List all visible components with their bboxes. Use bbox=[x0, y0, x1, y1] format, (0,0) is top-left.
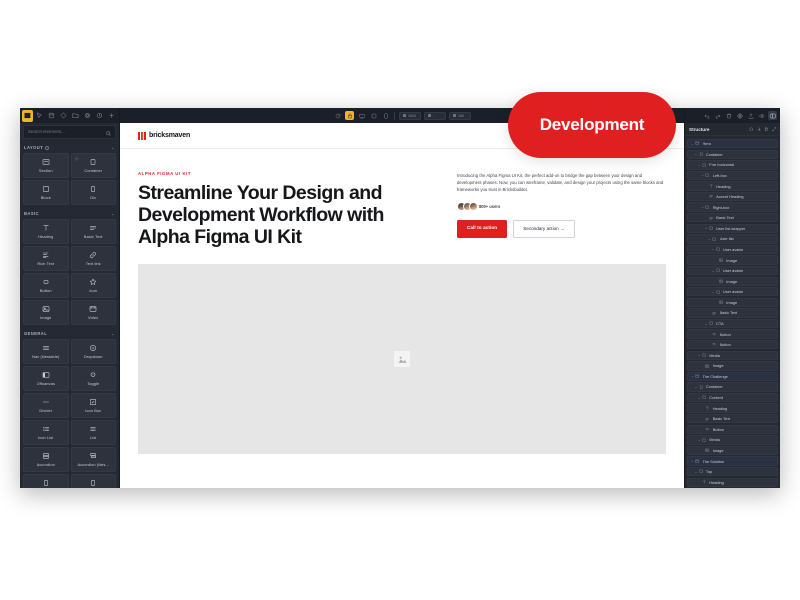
divider-icon bbox=[42, 398, 50, 406]
cursor-icon[interactable] bbox=[34, 110, 45, 122]
elements-panel: Search elements... LAYOUT⌄SectionContain… bbox=[20, 108, 120, 488]
tree-node-label: Container bbox=[706, 152, 723, 157]
tree-node[interactable]: ⌄User avatar bbox=[687, 287, 778, 296]
block-icon bbox=[702, 353, 707, 358]
element-card[interactable]: Accordion bbox=[23, 447, 69, 472]
element-grid: Nav (Nestable)DropdownOffcanvasToggleDiv… bbox=[23, 339, 116, 488]
tree-node[interactable]: ⌄Top bbox=[687, 467, 778, 476]
tree-node-label: The Challenge bbox=[703, 374, 728, 379]
tree-node[interactable]: Heading bbox=[687, 181, 778, 190]
block-icon bbox=[709, 226, 714, 231]
element-label: Video bbox=[88, 315, 98, 320]
block-icon bbox=[705, 173, 710, 178]
element-label: Rich Text bbox=[37, 261, 54, 266]
toggle-icon bbox=[89, 371, 97, 379]
element-label: Text link bbox=[86, 261, 101, 266]
element-card[interactable]: Icon bbox=[71, 273, 117, 298]
undo-icon[interactable] bbox=[702, 111, 711, 120]
tree-node[interactable]: Button bbox=[687, 425, 778, 434]
sort-icon[interactable] bbox=[757, 127, 762, 132]
hero-media-placeholder[interactable] bbox=[138, 264, 666, 454]
field-icon bbox=[453, 114, 456, 117]
element-label: Icon Box bbox=[85, 408, 101, 413]
tree-node[interactable]: Heading bbox=[687, 478, 778, 487]
element-label: Offcanvas bbox=[37, 381, 55, 386]
delete-icon[interactable] bbox=[764, 127, 769, 132]
icon-list-icon bbox=[42, 425, 50, 433]
element-label: Button bbox=[40, 288, 52, 293]
tree-node-label: User list wrapper bbox=[716, 226, 745, 231]
tree-node-label: The Solution bbox=[703, 459, 725, 464]
field-value: 100 bbox=[458, 114, 464, 118]
element-label: Icon List bbox=[38, 435, 53, 440]
refresh-icon[interactable] bbox=[333, 111, 342, 120]
element-label: Section bbox=[39, 168, 53, 173]
hero-right-box: Introducing the Alpha Figma UI Kit, the … bbox=[457, 171, 666, 248]
nested-marker-icon bbox=[75, 157, 79, 161]
text-icon bbox=[709, 194, 714, 199]
element-label: Heading bbox=[38, 234, 53, 239]
div-icon bbox=[42, 479, 50, 487]
site-logo[interactable]: bricksmaven bbox=[138, 132, 190, 140]
mobile-icon[interactable] bbox=[381, 111, 390, 120]
tree-node[interactable]: ⌄Frm horizontal bbox=[687, 160, 778, 169]
tree-node-label: User avatar bbox=[723, 247, 743, 252]
text-icon bbox=[89, 224, 97, 232]
section-title: BASIC bbox=[24, 211, 39, 216]
tree-node[interactable]: ⌄The Solution bbox=[687, 456, 778, 465]
eye-icon[interactable] bbox=[757, 111, 766, 120]
tree-node-label: Heading bbox=[709, 480, 724, 485]
tree-node-label: Content bbox=[709, 395, 723, 400]
block-icon bbox=[702, 162, 707, 167]
element-grid: SectionContainerBlockDiv bbox=[23, 153, 116, 205]
hero-left-box: ALPHA FIGMA UI KIT Streamline Your Desig… bbox=[138, 171, 439, 248]
element-card[interactable]: Rich Text bbox=[23, 246, 69, 271]
tree-node-label: Right-box bbox=[713, 205, 730, 210]
block-icon bbox=[705, 205, 710, 210]
search-input[interactable]: Search elements... bbox=[28, 130, 103, 134]
element-label: Accordion (Nes... bbox=[77, 462, 109, 467]
logo-text: bricksmaven bbox=[149, 132, 190, 139]
offcanvas-icon bbox=[42, 371, 50, 379]
tree-node-label: Top bbox=[706, 469, 712, 474]
element-card[interactable]: Text link bbox=[71, 246, 117, 271]
element-card[interactable]: Offcanvas bbox=[23, 366, 69, 391]
element-card[interactable]: Icon List bbox=[23, 420, 69, 445]
brick-icon[interactable] bbox=[22, 110, 33, 122]
tree-node-label: User avatar bbox=[723, 268, 743, 273]
tree-node[interactable]: ⌄User list wrapper bbox=[687, 224, 778, 233]
tree-node[interactable]: ⌄Hero bbox=[687, 139, 778, 148]
image-icon bbox=[705, 363, 710, 368]
tree-node-label: User list bbox=[720, 236, 734, 241]
section-icon bbox=[695, 141, 700, 146]
folder-icon[interactable] bbox=[70, 110, 81, 122]
tree-node[interactable]: ⌄User avatar bbox=[687, 245, 778, 254]
element-label: Block bbox=[41, 195, 51, 200]
users-count-label: 800+ users bbox=[479, 204, 500, 209]
section-icon bbox=[695, 459, 700, 464]
element-card[interactable]: Image bbox=[23, 300, 69, 325]
field-value: - bbox=[433, 114, 434, 118]
tree-node[interactable]: Image bbox=[687, 277, 778, 286]
development-badge-label: Development bbox=[540, 115, 645, 135]
tree-node-label: Container bbox=[706, 384, 723, 389]
tree-node[interactable]: ⌄Media bbox=[687, 435, 778, 444]
element-card[interactable]: Divider bbox=[23, 393, 69, 418]
container-icon bbox=[89, 158, 97, 166]
section-header-basic[interactable]: BASIC⌄ bbox=[23, 208, 116, 219]
user-list-wrapper: 800+ users bbox=[457, 202, 666, 211]
avatar bbox=[469, 202, 478, 211]
tree-node-label: Button bbox=[720, 332, 731, 337]
chevron-down-icon: ⌄ bbox=[111, 331, 115, 336]
block-icon bbox=[715, 268, 720, 273]
globe-icon[interactable] bbox=[735, 111, 744, 120]
section-header-layout[interactable]: LAYOUT⌄ bbox=[23, 142, 116, 153]
lock-icon[interactable] bbox=[345, 111, 354, 120]
structure-title: Structure bbox=[689, 127, 709, 132]
tree-node[interactable]: ⌄Container bbox=[687, 150, 778, 159]
link-icon bbox=[89, 251, 97, 259]
element-card[interactable]: Div bbox=[23, 474, 69, 488]
tree-node-label: Heading bbox=[713, 406, 728, 411]
list-icon bbox=[89, 425, 97, 433]
tree-node-label: Image bbox=[726, 300, 737, 305]
rich-text-icon bbox=[42, 251, 50, 259]
element-card[interactable]: Basic Text bbox=[71, 219, 117, 244]
block-icon bbox=[702, 395, 707, 400]
image-icon bbox=[705, 448, 710, 453]
tree-node[interactable]: Button bbox=[687, 340, 778, 349]
element-label: Icon bbox=[89, 288, 97, 293]
layers-icon[interactable] bbox=[46, 110, 57, 122]
element-label: Image bbox=[40, 315, 51, 320]
hero-section: ALPHA FIGMA UI KIT Streamline Your Desig… bbox=[120, 149, 684, 248]
add-icon[interactable] bbox=[749, 127, 754, 132]
info-icon bbox=[45, 146, 49, 150]
element-label: Basic Text bbox=[84, 234, 103, 239]
element-label: List bbox=[90, 435, 96, 440]
section-icon bbox=[42, 158, 50, 166]
element-card[interactable]: Dropdown bbox=[71, 339, 117, 364]
trash-icon[interactable] bbox=[724, 111, 733, 120]
tree-node-label: User avatar bbox=[723, 289, 743, 294]
block-icon bbox=[709, 321, 714, 326]
redo-icon[interactable] bbox=[713, 111, 722, 120]
tree-node[interactable]: ⌄Right-box bbox=[687, 202, 778, 211]
element-card[interactable]: Icon Box bbox=[71, 393, 117, 418]
element-label: Divider bbox=[39, 408, 52, 413]
development-badge: Development bbox=[508, 92, 676, 158]
cta-group: Call to action Secondary action → bbox=[457, 220, 666, 238]
section-icon bbox=[695, 374, 700, 379]
element-label: Container bbox=[84, 168, 102, 173]
element-card[interactable]: List bbox=[71, 420, 117, 445]
tree-node[interactable]: Button bbox=[687, 329, 778, 338]
div-icon bbox=[89, 185, 97, 193]
tree-node[interactable]: Basic Text bbox=[687, 213, 778, 222]
chevron-down-icon: ⌄ bbox=[111, 211, 115, 216]
export-icon[interactable] bbox=[746, 111, 755, 120]
block-icon bbox=[712, 236, 717, 241]
button-icon bbox=[705, 427, 710, 432]
tree-node-label: Basic Text bbox=[716, 215, 734, 220]
tree-node-label: Image bbox=[713, 363, 724, 368]
text-icon bbox=[709, 215, 714, 220]
user-avatars bbox=[457, 202, 475, 211]
block-icon bbox=[715, 247, 720, 252]
secondary-cta-button[interactable]: Secondary action → bbox=[513, 220, 574, 238]
tree-node-label: Media bbox=[709, 437, 720, 442]
div-icon bbox=[89, 479, 97, 487]
hero-paragraph: Introducing the Alpha Figma UI Kit, the … bbox=[457, 173, 666, 194]
heading-icon bbox=[702, 480, 707, 485]
container-icon bbox=[698, 152, 703, 157]
element-card[interactable]: Div bbox=[71, 180, 117, 205]
element-label: Toggle bbox=[87, 381, 99, 386]
tree-node-label: Accent Heading bbox=[716, 194, 743, 199]
element-card[interactable]: Block bbox=[23, 180, 69, 205]
tree-node[interactable]: ⌄Left-box bbox=[687, 171, 778, 180]
section-title: LAYOUT bbox=[24, 145, 43, 150]
text-icon bbox=[712, 310, 717, 315]
heading-icon bbox=[42, 224, 50, 232]
accordion-icon bbox=[42, 452, 50, 460]
elements-panel-toolbar bbox=[20, 108, 119, 123]
structure-panel: Structure ⌄Hero⌄Container⌄Frm horizontal… bbox=[684, 108, 780, 488]
image-icon bbox=[719, 300, 724, 305]
logo-mark-icon bbox=[138, 132, 146, 140]
structure-panel-icon[interactable] bbox=[768, 111, 777, 120]
accordion-nested-icon bbox=[89, 452, 97, 460]
chevron-down-icon: ⌄ bbox=[111, 145, 115, 150]
structure-actions[interactable] bbox=[749, 127, 776, 132]
tree-node[interactable]: Image bbox=[687, 298, 778, 307]
element-card[interactable]: Nav (Nestable) bbox=[23, 339, 69, 364]
expand-icon[interactable] bbox=[772, 127, 777, 132]
tree-node-label: Image bbox=[726, 279, 737, 284]
element-card[interactable]: Heading bbox=[23, 219, 69, 244]
history-icon[interactable] bbox=[94, 110, 105, 122]
tree-node[interactable]: Accent Heading bbox=[687, 192, 778, 201]
search-icon bbox=[106, 123, 111, 141]
tree-node-label: Image bbox=[713, 448, 724, 453]
tree-node-label: Hero bbox=[703, 141, 711, 146]
element-card[interactable]: Container bbox=[71, 153, 117, 178]
block-icon bbox=[715, 289, 720, 294]
primary-cta-button[interactable]: Call to action bbox=[457, 220, 507, 238]
block-icon bbox=[42, 185, 50, 193]
section-header-general[interactable]: GENERAL⌄ bbox=[23, 328, 116, 339]
zoom-field[interactable]: 100 bbox=[449, 112, 471, 120]
nav-icon bbox=[42, 344, 50, 352]
container-icon bbox=[698, 384, 703, 389]
button-icon bbox=[712, 342, 717, 347]
canvas-area: 1920-100 bricksmaven Home Alpha Library … bbox=[120, 108, 684, 488]
search-elements-box[interactable]: Search elements... bbox=[23, 125, 116, 139]
structure-panel-header: Structure bbox=[685, 123, 780, 136]
element-card[interactable]: Toggle bbox=[71, 366, 117, 391]
tree-node[interactable]: ⌄User avatar bbox=[687, 266, 778, 275]
element-card[interactable]: Button bbox=[23, 273, 69, 298]
tree-node-label: Left-box bbox=[713, 173, 727, 178]
dropdown-icon bbox=[89, 344, 97, 352]
height-field[interactable]: - bbox=[424, 112, 446, 120]
element-grid: HeadingBasic TextRich TextText linkButto… bbox=[23, 219, 116, 325]
tree-node[interactable]: Image bbox=[687, 361, 778, 370]
field-value: 1920 bbox=[408, 114, 416, 118]
plus-icon[interactable] bbox=[106, 110, 117, 122]
image-icon bbox=[42, 305, 50, 313]
tree-node-label: Button bbox=[720, 342, 731, 347]
tree-node-label: Button bbox=[713, 427, 724, 432]
element-card[interactable]: Accordion (Nes... bbox=[71, 447, 117, 472]
tree-node[interactable]: Basic Text bbox=[687, 308, 778, 317]
tree-node-label: Media bbox=[709, 353, 720, 358]
element-card[interactable]: Div bbox=[71, 474, 117, 488]
tree-node-label: Basic Text bbox=[713, 416, 731, 421]
heading-icon bbox=[709, 184, 714, 189]
heading-icon bbox=[705, 406, 710, 411]
tablet-icon[interactable] bbox=[369, 111, 378, 120]
tree-node-label: CTA bbox=[716, 321, 724, 326]
image-icon bbox=[719, 279, 724, 284]
component-icon[interactable] bbox=[58, 110, 69, 122]
button-icon bbox=[42, 278, 50, 286]
builder-window: Search elements... LAYOUT⌄SectionContain… bbox=[20, 108, 780, 488]
element-label: Accordion bbox=[37, 462, 55, 467]
structure-tree[interactable]: ⌄Hero⌄Container⌄Frm horizontal⌄Left-boxH… bbox=[685, 136, 780, 488]
icon-box-icon bbox=[89, 398, 97, 406]
block-icon bbox=[702, 437, 707, 442]
element-card[interactable]: Section bbox=[23, 153, 69, 178]
hero-heading: Streamline Your Design and Development W… bbox=[138, 182, 439, 248]
tree-node-label: Heading bbox=[716, 184, 731, 189]
tree-node[interactable]: ⌄Content bbox=[687, 393, 778, 402]
tree-node[interactable]: ⌄The Challenge bbox=[687, 372, 778, 381]
structure-panel-toolbar bbox=[685, 108, 780, 123]
page-canvas[interactable]: bricksmaven Home Alpha Library Account A… bbox=[120, 123, 684, 488]
video-icon bbox=[89, 305, 97, 313]
field-icon bbox=[428, 114, 431, 117]
tree-node[interactable]: ⌄Container bbox=[687, 382, 778, 391]
element-label: Dropdown bbox=[84, 354, 103, 359]
element-card[interactable]: Video bbox=[71, 300, 117, 325]
image-icon bbox=[719, 258, 724, 263]
tree-node[interactable]: ⌄User list bbox=[687, 234, 778, 243]
field-icon bbox=[403, 114, 406, 117]
width-field[interactable]: 1920 bbox=[399, 112, 421, 120]
tree-node[interactable]: Basic Text bbox=[687, 414, 778, 423]
elements-list[interactable]: LAYOUT⌄SectionContainerBlockDivBASIC⌄Hea… bbox=[20, 142, 119, 488]
desktop-icon[interactable] bbox=[357, 111, 366, 120]
toolbar-divider bbox=[394, 112, 395, 120]
button-icon bbox=[712, 332, 717, 337]
block-icon bbox=[698, 469, 703, 474]
image-placeholder-icon bbox=[394, 351, 410, 367]
tree-node[interactable]: ⌄CTA bbox=[687, 319, 778, 328]
element-label: Nav (Nestable) bbox=[32, 354, 59, 359]
tree-node-label: Frm horizontal bbox=[709, 162, 734, 167]
hero-eyebrow: ALPHA FIGMA UI KIT bbox=[138, 171, 439, 176]
tree-node[interactable]: Image bbox=[687, 446, 778, 455]
text-icon bbox=[705, 416, 710, 421]
star-icon bbox=[89, 278, 97, 286]
settings-icon[interactable] bbox=[82, 110, 93, 122]
tree-node-label: Basic Text bbox=[720, 310, 738, 315]
tree-node[interactable]: ⌄Media bbox=[687, 351, 778, 360]
tree-node-label: Image bbox=[726, 258, 737, 263]
section-title: GENERAL bbox=[24, 331, 47, 336]
tree-node[interactable]: Heading bbox=[687, 403, 778, 412]
element-label: Div bbox=[90, 195, 96, 200]
tree-node[interactable]: Image bbox=[687, 255, 778, 264]
